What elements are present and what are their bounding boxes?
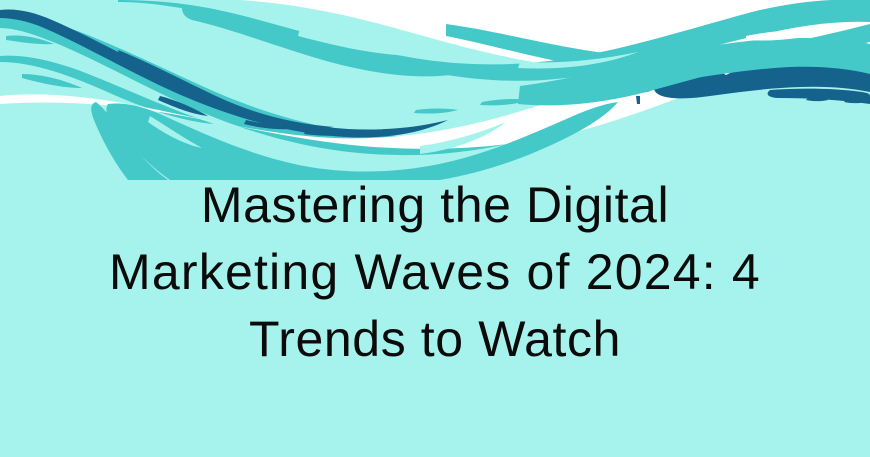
wave-teal-lower-sweep	[106, 102, 618, 180]
wave-teal-fleck-d	[636, 81, 672, 91]
wave-teal-right-patch	[653, 48, 870, 83]
wave-deepblue-blob-f	[636, 96, 640, 104]
title-line-1: Mastering the Digital	[44, 172, 826, 239]
wave-teal-left-wisp	[0, 56, 214, 124]
wave-texture-break-d	[298, 28, 420, 56]
wave-deepblue-right-stroke	[640, 56, 870, 98]
wave-deepblue-fleck-b	[244, 120, 300, 129]
wave-deepblue-blob-c	[710, 87, 730, 91]
wave-teal-fleck-c	[590, 91, 626, 100]
blog-banner: Mastering the Digital Marketing Waves of…	[0, 0, 870, 457]
wave-teal-lower-tail	[91, 102, 168, 180]
wave-teal-fleck-e	[414, 109, 458, 114]
wave-white-speck-a	[550, 19, 636, 27]
wave-brushstroke-illustration	[0, 0, 870, 180]
wave-base-layer	[0, 0, 870, 180]
wave-white-mid	[0, 32, 870, 149]
wave-teal-upper-left-mass	[182, 8, 458, 76]
wave-deepblue-mid-segment	[118, 50, 334, 128]
wave-deepblue-fleck-c	[304, 130, 356, 136]
wave-deepblue-right-tail	[768, 89, 870, 104]
wave-teal-fleck-b	[22, 74, 82, 88]
wave-texture-break-b	[420, 122, 506, 154]
wave-teal-right-lower	[518, 38, 870, 105]
wave-teal-left-diagonal	[0, 16, 612, 155]
wave-teal-fleck-f	[480, 99, 530, 105]
wave-deepblue-blob-a	[626, 85, 652, 92]
wave-deepblue-fleck-a	[158, 96, 208, 116]
wave-texture-break-c	[148, 116, 202, 148]
wave-teal-fleck-a	[6, 35, 54, 44]
wave-deepblue-left-stroke	[0, 9, 448, 137]
title-line-3: Trends to Watch	[44, 306, 826, 373]
page-title: Mastering the Digital Marketing Waves of…	[0, 172, 870, 373]
wave-white-upper	[0, 0, 870, 70]
wave-deepblue-blob-b	[688, 86, 704, 90]
wave-texture-break-a	[250, 140, 366, 161]
wave-teal-right-band	[446, 24, 870, 72]
wave-deepblue-blob-d	[806, 98, 828, 102]
wave-texture-break-e	[518, 52, 638, 68]
wave-white-speck-b	[746, 29, 838, 40]
wave-teal-top-arc	[118, 0, 870, 81]
title-line-2: Marketing Waves of 2024: 4	[44, 239, 826, 306]
wave-deepblue-blob-e	[844, 100, 866, 104]
